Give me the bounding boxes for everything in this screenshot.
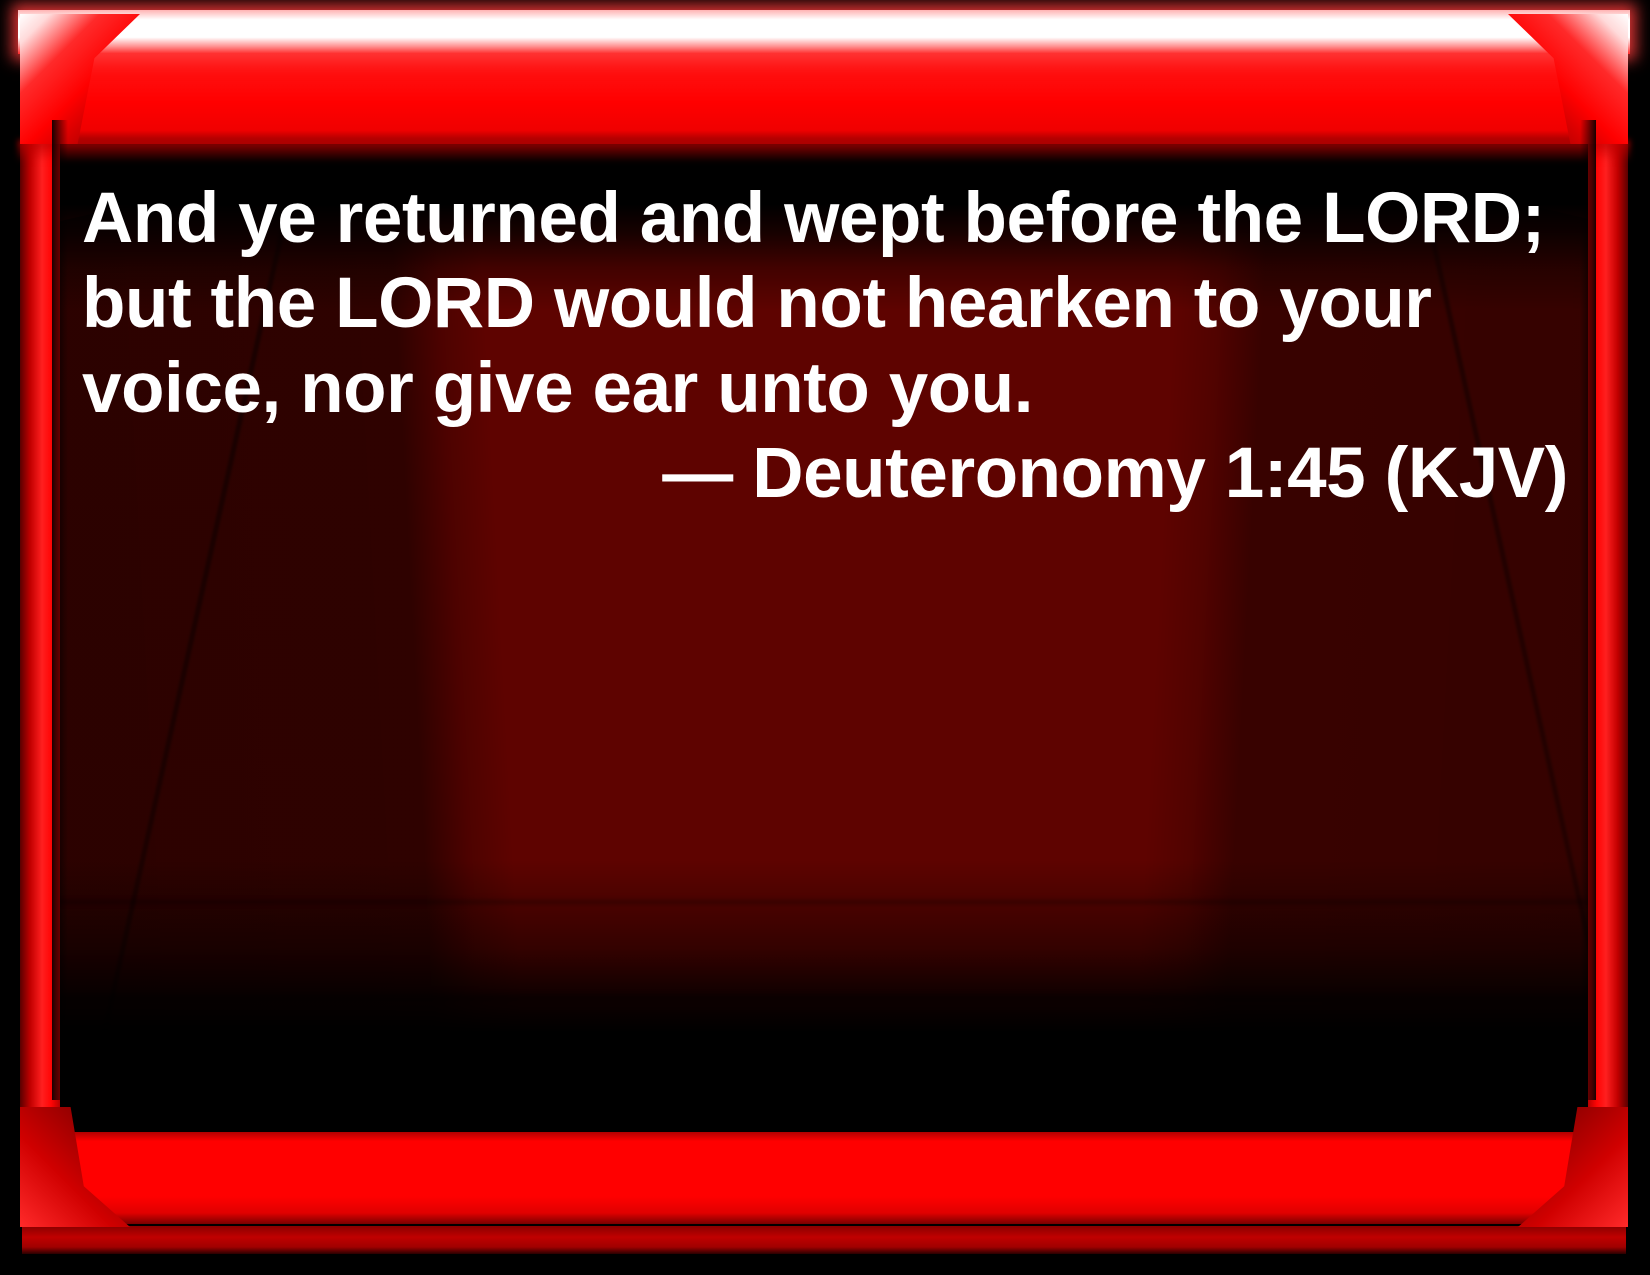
verse-reference: — Deuteronomy 1:45 (KJV) [82,431,1572,516]
frame-bar-bottom [22,1132,1626,1224]
verse-line-3: voice, nor give ear unto you. [82,346,1572,431]
panel-bottom-vignette [58,860,1600,1070]
frame-bar-top [20,52,1628,144]
frame-inner-shadow-left [52,120,68,1100]
verse-line-1: And ye returned and wept before the LORD… [82,176,1572,261]
frame-top-highlight-glow [18,10,1630,54]
frame-top-bleed [18,140,1630,162]
verse-line-2: but the LORD would not hearken to your [82,261,1572,346]
frame-bottom-shelf [22,1226,1626,1254]
verse-text-block: And ye returned and wept before the LORD… [82,176,1572,516]
bible-verse-slide: And ye returned and wept before the LORD… [0,0,1650,1275]
frame-inner-shadow-right [1580,120,1596,1100]
